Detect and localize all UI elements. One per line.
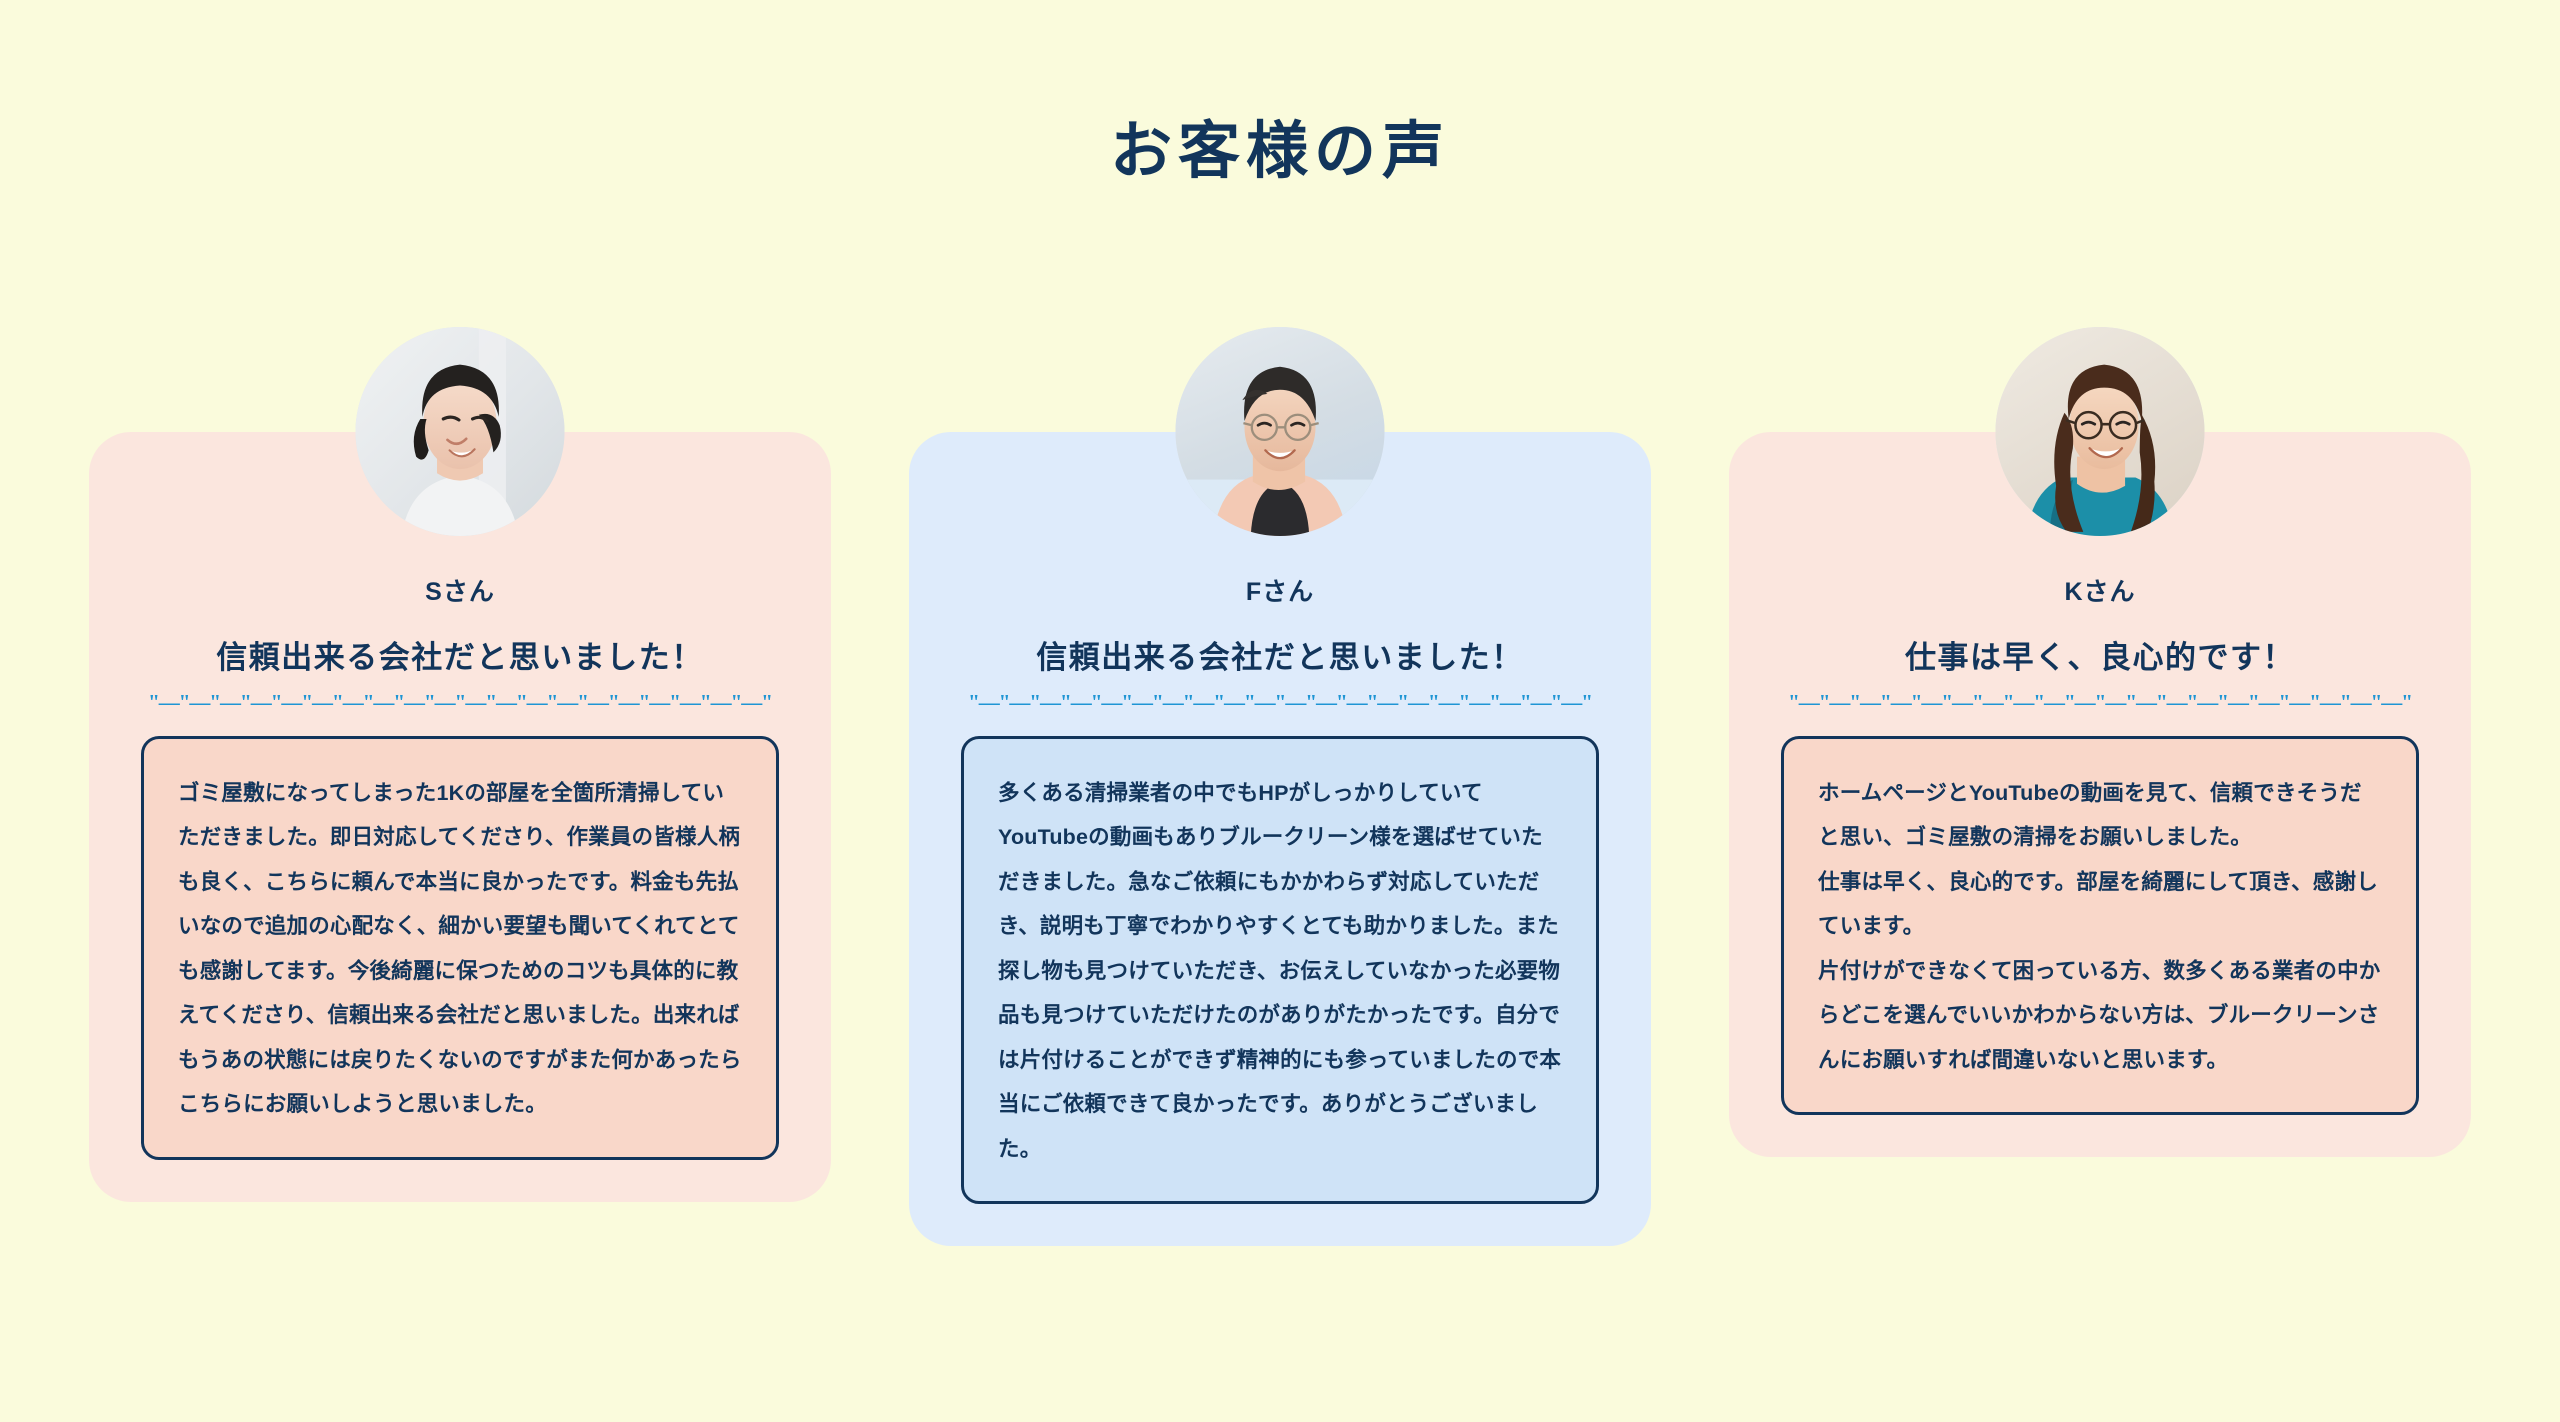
testimonial-body: 多くある清掃業者の中でもHPがしっかりしていてYouTubeの動画もありブルーク… — [998, 771, 1562, 1172]
testimonial-body: ゴミ屋敷になってしまった1Kの部屋を全箇所清掃していただきました。即日対応してく… — [178, 771, 742, 1127]
testimonial-heading: 仕事は早く、良心的です！ — [1905, 639, 2295, 678]
decorative-divider: "—"—"—"—"—"—"—"—"—"—"—"—"—"—"—"—"—"—"—"—… — [961, 690, 1599, 712]
testimonial-card: Kさん 仕事は早く、良心的です！ "—"—"—"—"—"—"—"—"—"—"—"… — [1729, 432, 2471, 1157]
decorative-divider: "—"—"—"—"—"—"—"—"—"—"—"—"—"—"—"—"—"—"—"—… — [141, 690, 779, 712]
testimonial-quote-box: ホームページとYouTubeの動画を見て、信頼できそうだと思い、ゴミ屋敷の清掃を… — [1781, 736, 2419, 1116]
avatar — [1176, 327, 1385, 536]
testimonials-page: お客様の声 — [0, 0, 2560, 1422]
testimonial-heading: 信頼出来る会社だと思いました！ — [216, 639, 704, 678]
testimonial-author-name: Kさん — [2064, 580, 2135, 605]
page-title: お客様の声 — [0, 118, 2560, 186]
testimonial-quote-box: ゴミ屋敷になってしまった1Kの部屋を全箇所清掃していただきました。即日対応してく… — [141, 736, 779, 1160]
testimonial-author-name: Sさん — [425, 580, 495, 605]
testimonial-card-list: Sさん 信頼出来る会社だと思いました！ "—"—"—"—"—"—"—"—"—"—… — [0, 432, 2560, 1246]
decorative-divider: "—"—"—"—"—"—"—"—"—"—"—"—"—"—"—"—"—"—"—"—… — [1781, 690, 2419, 712]
testimonial-heading: 信頼出来る会社だと思いました！ — [1036, 639, 1524, 678]
testimonial-card: Sさん 信頼出来る会社だと思いました！ "—"—"—"—"—"—"—"—"—"—… — [89, 432, 831, 1202]
testimonial-author-name: Fさん — [1246, 580, 1314, 605]
testimonial-body: ホームページとYouTubeの動画を見て、信頼できそうだと思い、ゴミ屋敷の清掃を… — [1818, 771, 2382, 1083]
testimonial-quote-box: 多くある清掃業者の中でもHPがしっかりしていてYouTubeの動画もありブルーク… — [961, 736, 1599, 1205]
testimonial-card: Fさん 信頼出来る会社だと思いました！ "—"—"—"—"—"—"—"—"—"—… — [909, 432, 1651, 1246]
avatar — [356, 327, 565, 536]
avatar — [1996, 327, 2205, 536]
